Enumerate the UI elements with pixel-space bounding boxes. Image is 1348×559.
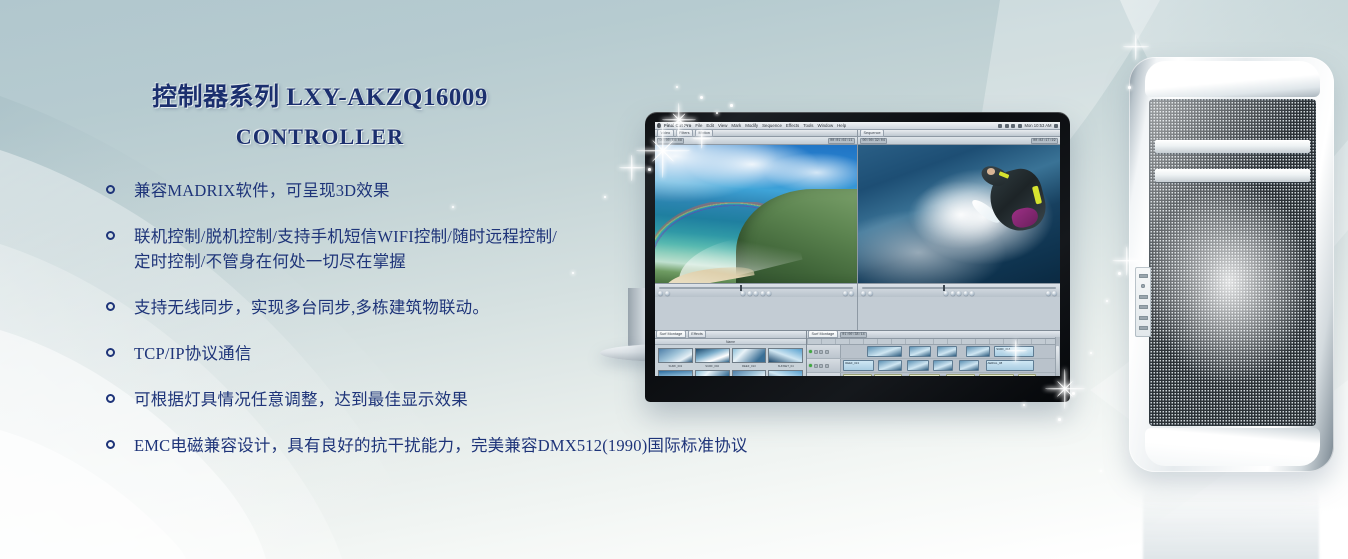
canvas-right-controls bbox=[1046, 291, 1058, 296]
glitter-dot bbox=[1072, 392, 1075, 395]
feature-text: 支持无线同步，实现多台同步,多栋建筑物联动。 bbox=[134, 295, 489, 320]
glitter-dot bbox=[1023, 404, 1025, 406]
canvas-left-controls bbox=[861, 291, 873, 296]
canvas-scrubber[interactable] bbox=[858, 283, 1060, 297]
surfer-hand-shape bbox=[987, 168, 995, 174]
page-title: 控制器系列 LXY-AKZQ16009 bbox=[60, 82, 580, 114]
bullet-ring-icon bbox=[106, 302, 115, 311]
tower-chassis bbox=[1129, 57, 1334, 472]
bluetooth-icon[interactable] bbox=[998, 124, 1002, 128]
optical-drive-bay bbox=[1155, 140, 1310, 153]
glitter-dot bbox=[572, 272, 574, 274]
list-item: 可根据灯具情况任意调整，达到最佳显示效果 bbox=[106, 387, 846, 412]
glitter-dot bbox=[676, 86, 678, 88]
surfer-wave-image bbox=[858, 145, 1060, 283]
add-keyframe-icon[interactable] bbox=[1046, 291, 1051, 296]
timeline-clip[interactable]: SPRAY.aif bbox=[909, 374, 940, 376]
timeline-clip[interactable] bbox=[909, 346, 931, 357]
glitter-dot bbox=[648, 168, 651, 171]
feature-text: 联机控制/脱机控制/支持手机短信WIFI控制/随时远程控制/ 定时控制/不管身在… bbox=[134, 224, 557, 274]
battery-icon[interactable] bbox=[1018, 124, 1022, 128]
canvas-window: Sequence 00:00:32:04 00:02:17:19 bbox=[858, 130, 1060, 330]
front-port-panel bbox=[1135, 267, 1151, 337]
tower-reflection bbox=[1143, 475, 1319, 559]
list-item: EMC电磁兼容设计，具有良好的抗干扰能力，完美兼容DMX512(1990)国际标… bbox=[106, 433, 846, 458]
bullet-ring-icon bbox=[106, 231, 115, 240]
scrubber-track[interactable] bbox=[862, 287, 1056, 289]
list-item: 联机控制/脱机控制/支持手机短信WIFI控制/随时远程控制/ 定时控制/不管身在… bbox=[106, 224, 846, 274]
next-edit-icon[interactable] bbox=[970, 291, 975, 296]
play-icon[interactable] bbox=[957, 291, 962, 296]
feature-text: 兼容MADRIX软件，可呈现3D效果 bbox=[134, 178, 390, 203]
timecode-out-field[interactable]: 00:02:17:19 bbox=[1031, 138, 1058, 144]
add-marker-icon[interactable] bbox=[1052, 291, 1057, 296]
play-around-icon[interactable] bbox=[963, 291, 968, 296]
mark-out-icon[interactable] bbox=[868, 291, 873, 296]
timeline-clip[interactable] bbox=[933, 360, 953, 371]
volume-icon[interactable] bbox=[1005, 124, 1009, 128]
usb-port-icon bbox=[1139, 316, 1148, 320]
feature-text: 可根据灯具情况任意调整，达到最佳显示效果 bbox=[134, 387, 468, 412]
firewire-port-icon bbox=[1139, 274, 1148, 278]
usb-port-icon bbox=[1139, 295, 1148, 299]
headphone-port-icon bbox=[1141, 284, 1145, 288]
usb-port-icon bbox=[1139, 326, 1148, 330]
feature-text: EMC电磁兼容设计，具有良好的抗干扰能力，完美兼容DMX512(1990)国际标… bbox=[134, 433, 748, 458]
track-lane-v1[interactable]: REEF_013 AERIAL_08 bbox=[841, 359, 1060, 372]
timecode-in-field[interactable]: 00:00:32:04 bbox=[860, 138, 887, 144]
timeline-clip[interactable] bbox=[867, 346, 902, 357]
glitter-dot bbox=[604, 196, 606, 198]
glitter-dot bbox=[716, 112, 718, 114]
glitter-dot bbox=[700, 96, 703, 99]
timeline-clip[interactable] bbox=[959, 360, 979, 371]
menu-bar-clock[interactable]: Mon 10:53 AM bbox=[1024, 123, 1051, 128]
transport-controls bbox=[944, 291, 975, 296]
bullet-ring-icon bbox=[106, 185, 115, 194]
tower-top-cap bbox=[1145, 61, 1320, 97]
list-item: TCP/IP协议通信 bbox=[106, 341, 846, 366]
bullet-ring-icon bbox=[106, 440, 115, 449]
list-item: 支持无线同步，实现多台同步,多栋建筑物联动。 bbox=[106, 295, 846, 320]
menu-bar-status-area: Mon 10:53 AM bbox=[998, 123, 1058, 128]
glitter-dot bbox=[1106, 300, 1108, 302]
glitter-dot bbox=[1058, 418, 1061, 421]
timeline-clip[interactable]: SURF_018 bbox=[994, 346, 1033, 357]
timeline-clip[interactable] bbox=[878, 360, 902, 371]
play-in-to-out-icon[interactable] bbox=[950, 291, 955, 296]
canvas-image[interactable] bbox=[858, 145, 1060, 283]
glitter-dot bbox=[1128, 86, 1131, 89]
optical-drive-bay bbox=[1155, 169, 1310, 182]
banner-heading: 控制器系列 LXY-AKZQ16009 CONTROLLER bbox=[60, 82, 580, 154]
list-item: 兼容MADRIX软件，可呈现3D效果 bbox=[106, 178, 846, 203]
timeline-clip[interactable] bbox=[937, 346, 957, 357]
copy-block: 控制器系列 LXY-AKZQ16009 CONTROLLER 兼容MADRIX软… bbox=[0, 0, 860, 559]
bullet-ring-icon bbox=[106, 348, 115, 357]
previous-edit-icon[interactable] bbox=[944, 291, 949, 296]
glitter-dot bbox=[1090, 352, 1092, 354]
timeline-clip[interactable]: BEACH.aif bbox=[946, 374, 974, 376]
canvas-titlebar[interactable]: Sequence bbox=[858, 130, 1060, 137]
glitter-dot bbox=[452, 206, 454, 208]
timeline-clip[interactable]: REEF.aif bbox=[874, 374, 902, 376]
usb-port-icon bbox=[1139, 305, 1148, 309]
mark-in-icon[interactable] bbox=[861, 291, 866, 296]
glitter-dot bbox=[1100, 470, 1102, 472]
wifi-icon[interactable] bbox=[1011, 124, 1015, 128]
glitter-dot bbox=[1118, 272, 1121, 275]
timeline-clip[interactable] bbox=[907, 360, 929, 371]
timeline-scrollbar[interactable] bbox=[1055, 337, 1060, 376]
timeline-clip[interactable]: OUT.aif bbox=[1018, 374, 1036, 376]
scrollbar-thumb[interactable] bbox=[1056, 346, 1059, 376]
page-subtitle: CONTROLLER bbox=[60, 120, 580, 154]
canvas-toolbar: 00:00:32:04 00:02:17:19 bbox=[858, 137, 1060, 145]
bullet-ring-icon bbox=[106, 394, 115, 403]
product-banner: 控制器系列 LXY-AKZQ16009 CONTROLLER 兼容MADRIX软… bbox=[0, 0, 1348, 559]
glitter-dot bbox=[730, 104, 733, 107]
tab-sequence[interactable]: Sequence bbox=[860, 129, 884, 137]
timeline-clip[interactable]: AMBIENCE.aif bbox=[979, 374, 1014, 376]
timeline-clip[interactable] bbox=[966, 346, 990, 357]
track-lane-v2[interactable]: SURF_018 bbox=[841, 345, 1060, 358]
timeline-clip[interactable]: AERIAL_08 bbox=[986, 360, 1034, 371]
mac-pro-tower bbox=[1129, 57, 1334, 472]
feature-text: TCP/IP协议通信 bbox=[134, 341, 252, 366]
search-icon[interactable] bbox=[1054, 124, 1058, 128]
track-lane-a1[interactable]: SURF.aif REEF.aif SPRAY.aif BEACH.aif AM… bbox=[841, 373, 1060, 376]
tower-bottom-cap bbox=[1145, 428, 1320, 466]
feature-list: 兼容MADRIX软件，可呈现3D效果 联机控制/脱机控制/支持手机短信WIFI控… bbox=[106, 178, 846, 479]
